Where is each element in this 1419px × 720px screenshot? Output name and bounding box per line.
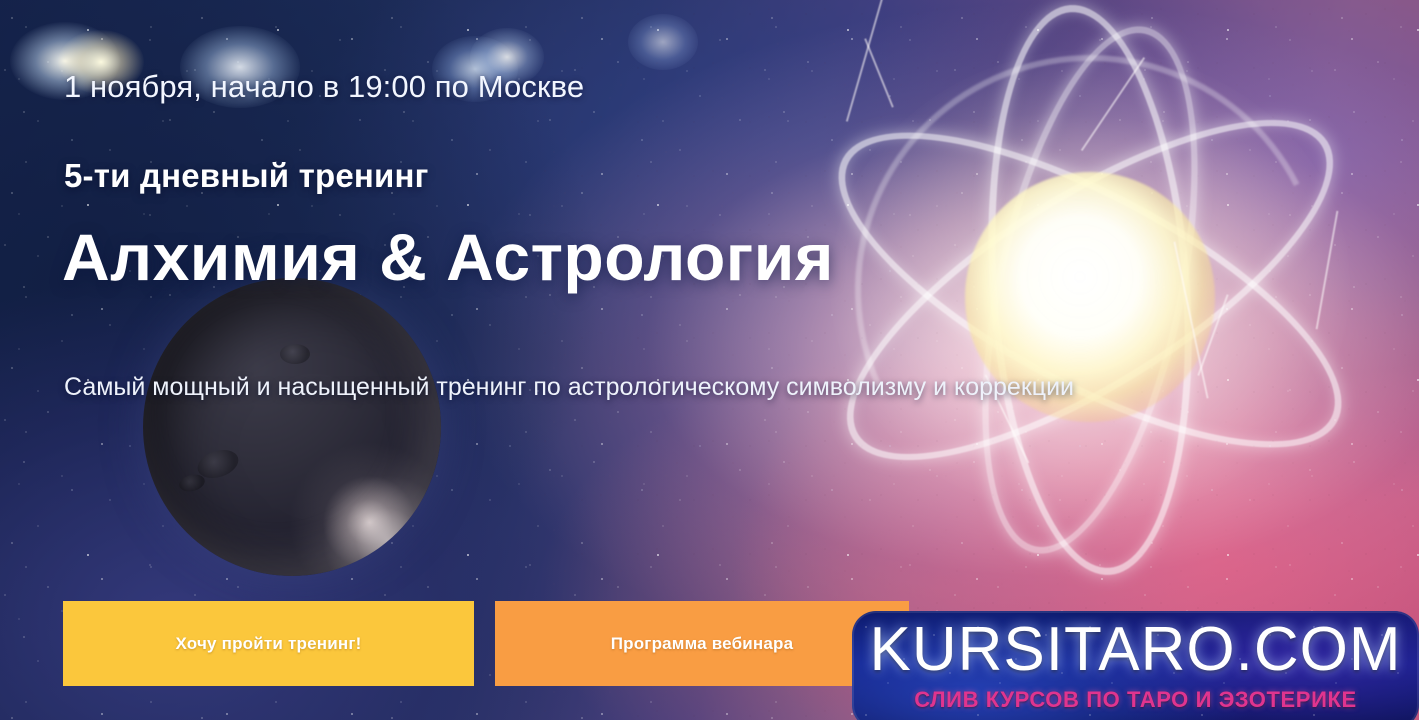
promo-banner: 1 ноября, начало в 19:00 по Москве 5-ти … bbox=[0, 0, 1419, 720]
lightning-icon-2 bbox=[864, 38, 893, 107]
dark-planet-sphere bbox=[143, 278, 441, 576]
webinar-program-button[interactable]: Программа вебинара bbox=[495, 601, 909, 686]
site-watermark-badge: KURSITARO.COM СЛИВ КУРСОВ ПО ТАРО И ЭЗОТ… bbox=[852, 611, 1419, 720]
planet-limb-light bbox=[143, 278, 441, 576]
page-title: Алхимия & Астрология bbox=[62, 224, 834, 290]
atom-orbits-graphic bbox=[760, 0, 1419, 640]
training-length-kicker: 5-ти дневный тренинг bbox=[64, 157, 429, 195]
lightning-icon bbox=[846, 0, 884, 122]
watermark-tagline: СЛИВ КУРСОВ ПО ТАРО И ЭЗОТЕРИКЕ bbox=[852, 687, 1419, 713]
event-date-text: 1 ноября, начало в 19:00 по Москве bbox=[64, 69, 584, 105]
banner-description: Самый мощный и насыщенный тренинг по аст… bbox=[64, 362, 1094, 412]
watermark-site-name: KURSITARO.COM bbox=[852, 617, 1419, 682]
join-training-button[interactable]: Хочу пройти тренинг! bbox=[63, 601, 474, 686]
